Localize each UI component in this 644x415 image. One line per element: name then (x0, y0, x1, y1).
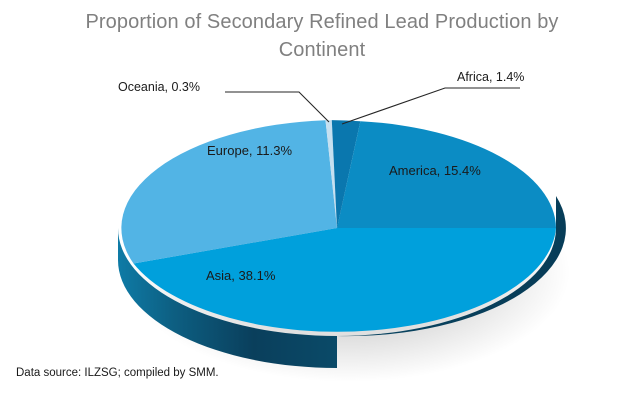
pie-label-oceania: Oceania, 0.3% (118, 80, 200, 94)
leader-line-africa (342, 88, 520, 124)
leader-line-oceania (225, 92, 329, 122)
pie-label-europe: Europe, 11.3% (207, 143, 292, 158)
source-note: Data source: ILZSG; compiled by SMM. (16, 367, 219, 379)
pie-label-america: America, 15.4% (389, 163, 481, 178)
pie-label-africa: Africa, 1.4% (457, 70, 524, 84)
pie-label-asia: Asia, 38.1% (206, 268, 275, 283)
pie-chart-graphic (0, 0, 644, 415)
pie-chart-figure: Proportion of Secondary Refined Lead Pro… (0, 0, 644, 415)
